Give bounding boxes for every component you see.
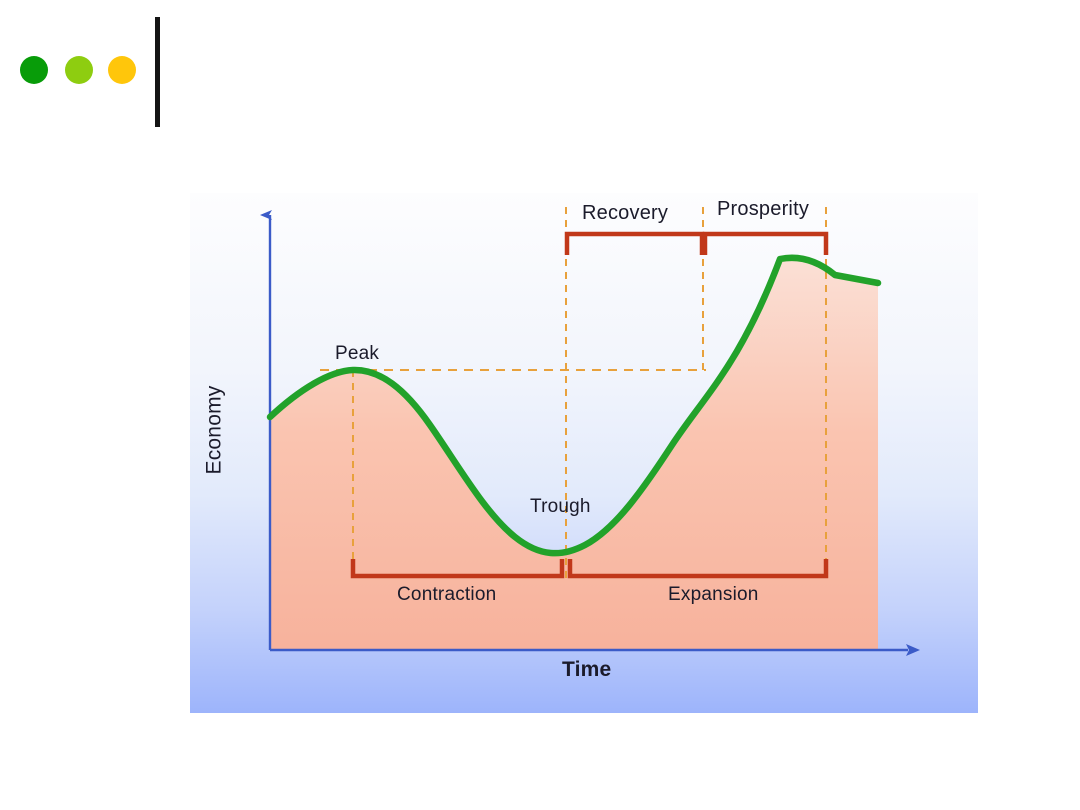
peak-annotation-label: Peak — [335, 343, 379, 365]
lime-dot — [65, 56, 93, 84]
business-cycle-chart: Economy Time Peak Trough Recovery Prospe… — [190, 193, 978, 713]
x-axis-label: Time — [562, 658, 611, 682]
trough-annotation-label: Trough — [530, 496, 591, 518]
chart-canvas — [190, 193, 978, 713]
contraction-phase-label: Contraction — [397, 584, 496, 606]
expansion-phase-label: Expansion — [668, 584, 759, 606]
y-axis-label: Economy — [202, 386, 226, 475]
green-dot — [20, 56, 48, 84]
prosperity-phase-label: Prosperity — [717, 198, 809, 221]
yellow-dot — [108, 56, 136, 84]
vertical-divider-bar — [155, 17, 160, 127]
slide-decoration — [0, 0, 200, 140]
recovery-phase-label: Recovery — [582, 202, 668, 225]
